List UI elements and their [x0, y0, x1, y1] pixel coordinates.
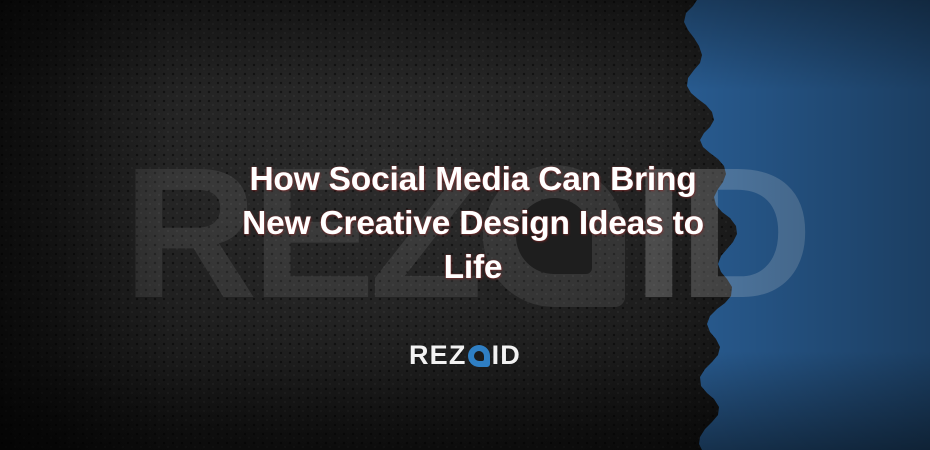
- headline-line-2: New Creative Design Ideas to: [163, 202, 783, 246]
- page-title: How Social Media Can Bring New Creative …: [163, 158, 783, 290]
- headline-line-3: Life: [163, 246, 783, 290]
- logo-prefix: REZ: [409, 342, 467, 369]
- logo-a-pin-icon: [468, 345, 490, 367]
- headline-line-1: How Social Media Can Bring: [163, 158, 783, 202]
- banner-canvas: REZ ID How Social Media Can Bring New Cr…: [0, 0, 930, 450]
- logo-suffix: ID: [492, 342, 521, 369]
- brand-logo: REZ ID: [0, 342, 930, 369]
